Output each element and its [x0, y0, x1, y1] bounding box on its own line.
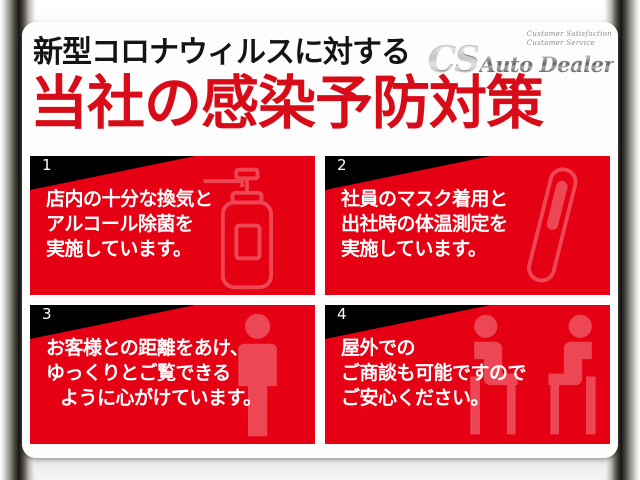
panel-text-line: お客様との距離をあけ、 [46, 336, 309, 361]
panel-text-line: 店内の十分な換気と [46, 187, 309, 212]
panel-text-line: ように心がけています。 [46, 386, 309, 411]
panel-text-line: ゆっくりとご覧できる [46, 361, 309, 386]
poster-board: 新型コロナウィルスに対する Customer Satisfaction Cust… [22, 22, 618, 458]
panel-corner-wedge [325, 305, 490, 339]
panel-text-line: アルコール除菌を [46, 212, 309, 237]
measure-panel-3: 3 お客様との距離をあけ、 ゆっくりとご覧できる ように心がけています。 [30, 305, 315, 444]
measure-panel-2: 2 社員のマスク着用と 出社時の体温測定を 実施しています。 [325, 156, 610, 295]
panel-corner-wedge [325, 156, 490, 190]
panel-text-line: ご商談も可能ですので [341, 361, 604, 386]
poster-header: 新型コロナウィルスに対する Customer Satisfaction Cust… [22, 22, 618, 150]
panel-number: 3 [42, 307, 52, 322]
measure-panel-grid: 1 店内の十分な換気と アルコール除菌を 実施しています。 [30, 156, 610, 444]
panel-number: 4 [337, 307, 347, 322]
panel-text: 社員のマスク着用と 出社時の体温測定を 実施しています。 [341, 187, 604, 262]
infection-prevention-poster: 新型コロナウィルスに対する Customer Satisfaction Cust… [0, 0, 640, 480]
panel-text-line: 実施しています。 [46, 237, 309, 262]
panel-text-line: ご安心ください。 [341, 386, 604, 411]
logo-tagline-line1: Customer Satisfaction [527, 30, 612, 39]
panel-text-line: 出社時の体温測定を [341, 212, 604, 237]
panel-number: 2 [337, 158, 347, 173]
panel-text: 屋外での ご商談も可能ですので ご安心ください。 [341, 336, 604, 411]
panel-text-line: 実施しています。 [341, 237, 604, 262]
panel-text-line: 社員のマスク着用と [341, 187, 604, 212]
panel-text: 店内の十分な換気と アルコール除菌を 実施しています。 [46, 187, 309, 262]
panel-corner-wedge [30, 156, 195, 190]
panel-text: お客様との距離をあけ、 ゆっくりとご覧できる ように心がけています。 [46, 336, 309, 411]
panel-corner-wedge [30, 305, 195, 339]
main-headline: 当社の感染予防対策 [30, 74, 543, 132]
panel-number: 1 [42, 158, 52, 173]
panel-text-line: 屋外での [341, 336, 604, 361]
measure-panel-1: 1 店内の十分な換気と アルコール除菌を 実施しています。 [30, 156, 315, 295]
sub-headline: 新型コロナウィルスに対する [33, 38, 410, 68]
measure-panel-4: 4 屋外での [325, 305, 610, 444]
